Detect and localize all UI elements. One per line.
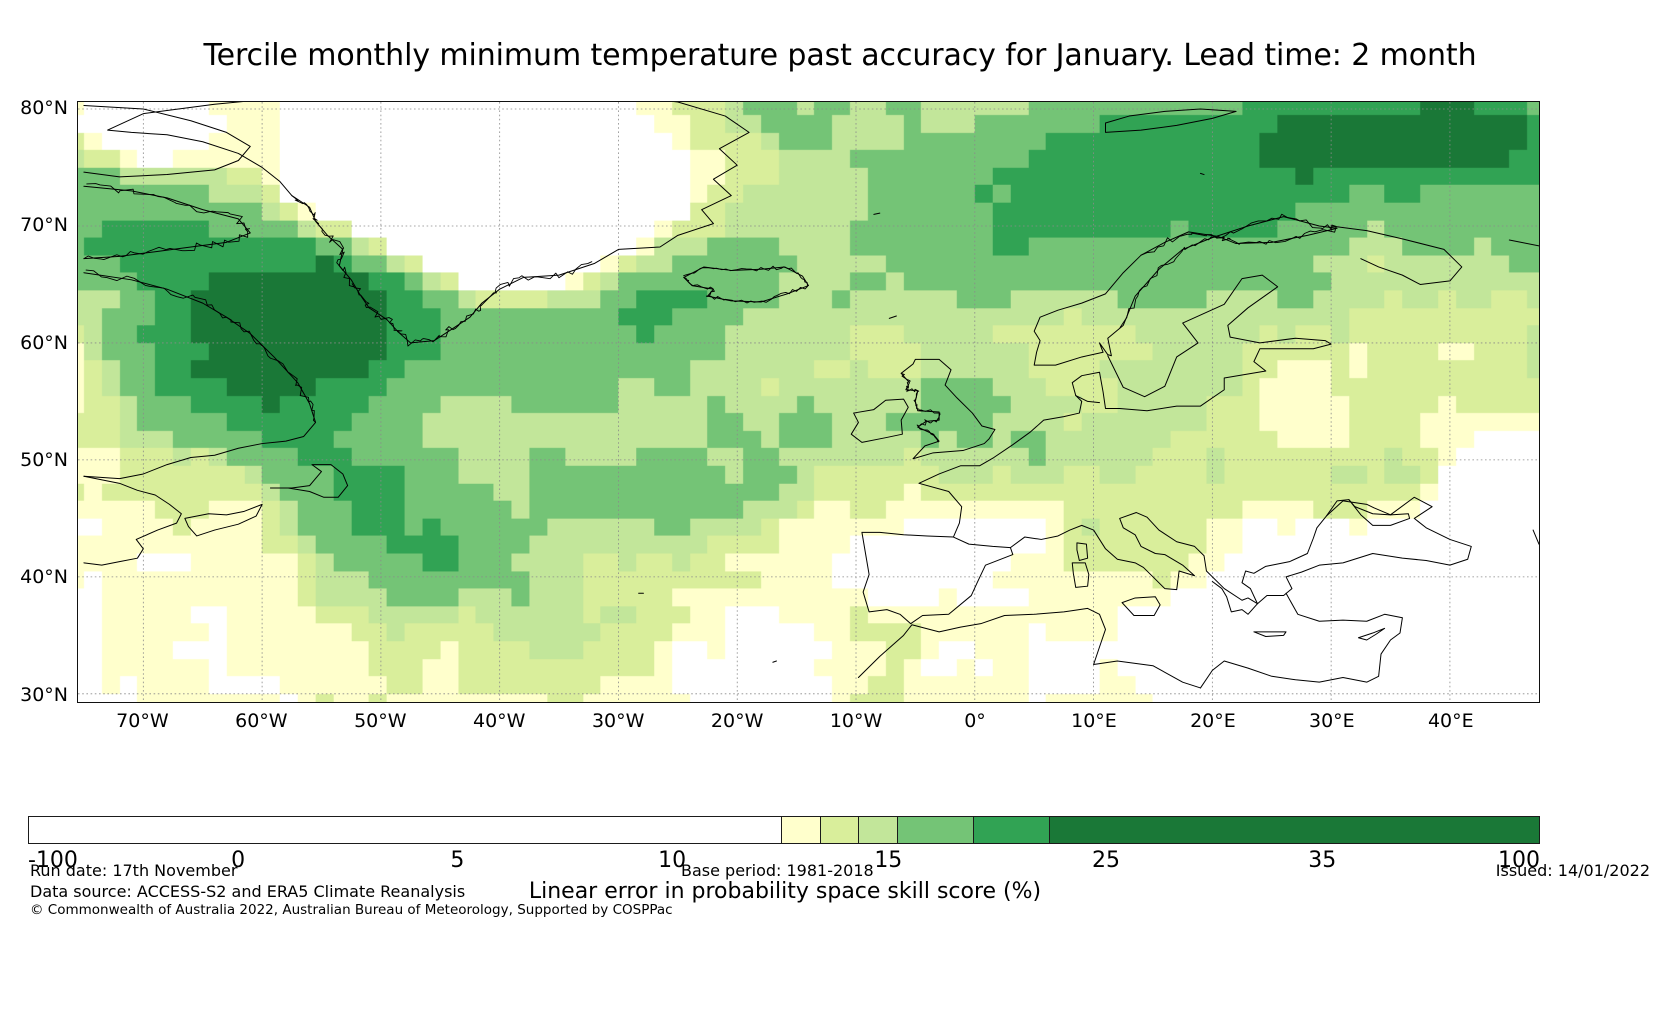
colorbar-tick-label: 35 bbox=[1308, 848, 1336, 873]
coastline-path bbox=[1533, 530, 1539, 577]
lon-tick-label: 10°W bbox=[830, 710, 882, 732]
coastline-path bbox=[108, 102, 749, 343]
coastline-path bbox=[1010, 513, 1257, 615]
coastline-path bbox=[84, 476, 181, 565]
coastline-path bbox=[1077, 543, 1088, 561]
lon-tick-label: 30°W bbox=[592, 710, 644, 732]
coastline-path bbox=[1120, 214, 1336, 327]
coastline-path bbox=[889, 316, 896, 318]
lon-tick-label: 20°E bbox=[1190, 710, 1236, 732]
map-plot-area bbox=[77, 101, 1540, 703]
lat-tick-label: 30°N bbox=[20, 684, 68, 706]
coastline-path bbox=[1105, 109, 1236, 132]
colorbar-tick-label: 5 bbox=[450, 848, 464, 873]
colorbar-tick-label: 25 bbox=[1092, 848, 1120, 873]
copyright-text: © Commonwealth of Australia 2022, Austra… bbox=[30, 902, 673, 918]
coastline-path bbox=[858, 608, 1200, 688]
issued-date-text: Issued: 14/01/2022 bbox=[1496, 861, 1650, 880]
coastline-path bbox=[84, 184, 250, 260]
data-source-text: Data source: ACCESS-S2 and ERA5 Climate … bbox=[30, 882, 465, 901]
lat-tick-label: 70°N bbox=[20, 214, 68, 236]
coastline-path bbox=[270, 465, 347, 498]
run-date-text: Run date: 17th November bbox=[30, 861, 237, 880]
colorbar-segment bbox=[29, 817, 781, 843]
coastline-path bbox=[1331, 226, 1462, 285]
colorbar-segment bbox=[1049, 817, 1539, 843]
coastline-path bbox=[86, 270, 315, 422]
lon-tick-label: 50°W bbox=[354, 710, 406, 732]
colorbar bbox=[28, 816, 1540, 844]
coastline-path bbox=[901, 373, 940, 442]
coastline-path bbox=[901, 359, 995, 458]
lon-tick-label: 40°E bbox=[1428, 710, 1474, 732]
base-period-text: Base period: 1981-2018 bbox=[681, 861, 874, 880]
lon-tick-label: 0° bbox=[964, 710, 986, 732]
coastline-overlay bbox=[78, 102, 1539, 702]
lat-tick-label: 60°N bbox=[20, 332, 68, 354]
coastline-path bbox=[1200, 173, 1204, 174]
colorbar-segment bbox=[897, 817, 973, 843]
colorbar-tick-label: 15 bbox=[874, 848, 902, 873]
coastline-path bbox=[851, 399, 908, 442]
coastline-path bbox=[1242, 497, 1471, 603]
lon-tick-label: 10°E bbox=[1071, 710, 1117, 732]
coastline-path bbox=[1326, 500, 1409, 526]
coastline-path bbox=[84, 105, 250, 176]
coastline-path bbox=[684, 267, 809, 302]
colorbar-segment bbox=[820, 817, 859, 843]
lat-tick-label: 50°N bbox=[20, 449, 68, 471]
coastline-path bbox=[862, 532, 1013, 623]
page-title: Tercile monthly minimum temperature past… bbox=[0, 38, 1680, 73]
coastline-path bbox=[292, 196, 592, 346]
colorbar-segment bbox=[973, 817, 1049, 843]
coastline-path bbox=[862, 396, 1082, 538]
lon-tick-label: 20°W bbox=[711, 710, 763, 732]
colorbar-segment bbox=[858, 817, 897, 843]
lat-tick-label: 80°N bbox=[20, 97, 68, 119]
coastline-path bbox=[1254, 632, 1286, 637]
coastline-path bbox=[1200, 593, 1402, 688]
coastline-path bbox=[1509, 239, 1539, 247]
lon-tick-label: 30°E bbox=[1309, 710, 1355, 732]
coastline-path bbox=[1358, 628, 1384, 640]
coastline-path bbox=[874, 213, 880, 214]
lon-tick-label: 40°W bbox=[473, 710, 525, 732]
figure-root: Tercile monthly minimum temperature past… bbox=[0, 0, 1680, 1020]
coastline-path bbox=[684, 266, 808, 303]
lon-tick-label: 70°W bbox=[116, 710, 168, 732]
coastline-path bbox=[84, 186, 250, 258]
colorbar-segment bbox=[781, 817, 820, 843]
coastline-path bbox=[773, 661, 777, 662]
coastline-path bbox=[1072, 563, 1089, 588]
lon-tick-label: 60°W bbox=[235, 710, 287, 732]
coastline-path bbox=[84, 273, 316, 479]
lat-tick-label: 40°N bbox=[20, 566, 68, 588]
coastline-path bbox=[1122, 597, 1160, 616]
coastline-path bbox=[185, 504, 262, 536]
